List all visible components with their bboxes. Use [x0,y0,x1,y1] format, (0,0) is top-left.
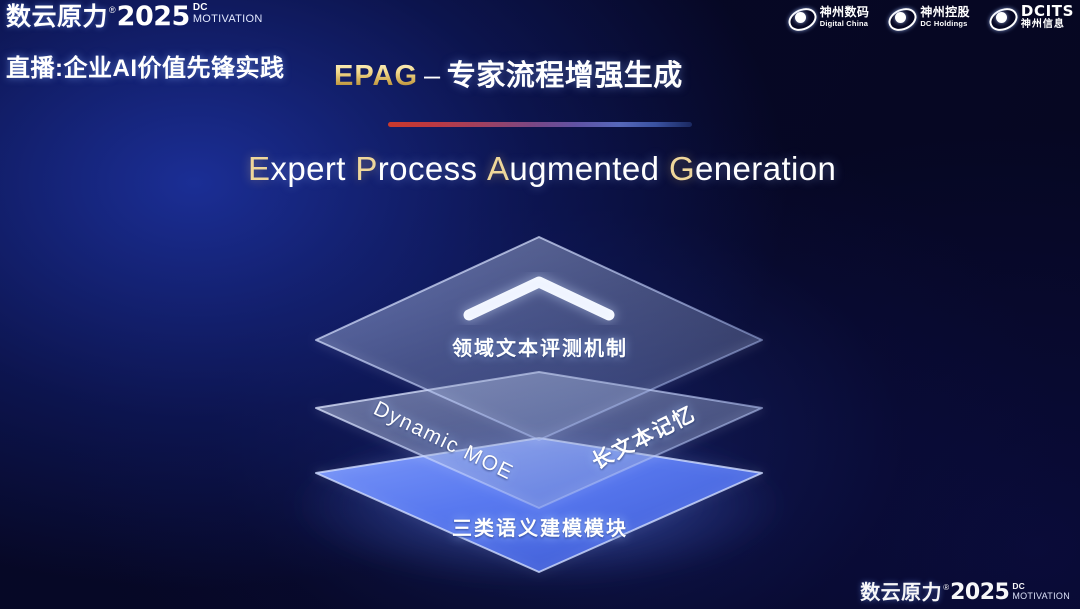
partner-name-cn: 神州数码 [820,6,870,19]
partner-name-en: Digital China [820,19,870,29]
chevron-up-icon [469,282,609,315]
layer-bottom-plate [316,438,762,572]
subtitle-cap-p: P [355,150,377,187]
partner-logo-dcits: DCITS 神州信息 [988,4,1074,31]
brand-logo: 数云原力 ® 2025 DC MOTIVATION [6,2,263,32]
brand-motivation: MOTIVATION [193,13,263,25]
partner-name-cn: DCITS [1021,4,1074,19]
subtitle-word-generation: eneration [695,150,836,187]
subtitle-word-process: rocess [378,150,478,187]
registered-mark: ® [109,3,116,17]
gradient-divider [388,122,692,127]
brand-year: 2025 [117,2,190,32]
watermark-year: 2025 [950,581,1009,605]
partner-logo-digital-china: 神州数码 Digital China [787,6,870,30]
partner-logo-group: 神州数码 Digital China 神州控股 DC Holdings DCIT… [787,4,1074,31]
watermark-subtag: DC MOTIVATION [1012,582,1070,601]
bottom-layer-glow [289,423,789,587]
watermark-motivation: MOTIVATION [1012,591,1070,601]
layer-bottom-rim [316,438,762,572]
top-bar: 数云原力 ® 2025 DC MOTIVATION 直播:企业AI价值先锋实践 … [0,0,1080,96]
swirl-icon [988,6,1016,30]
subtitle-word-expert: xpert [270,150,345,187]
partner-text: DCITS 神州信息 [1021,4,1074,31]
subtitle-cap-a: A [487,150,509,187]
brand-name-cn: 数云原力 [6,2,108,32]
subtitle-cap-g: G [669,150,695,187]
brand-dc: DC [193,3,263,13]
partner-name-en: 神州信息 [1021,19,1074,31]
side-label-long-text-memory: 长文本记忆 [586,398,700,476]
swirl-icon [887,6,915,30]
watermark-registered: ® [943,582,949,593]
chevron-up-icon-glow [469,282,609,315]
brand-subtag: DC MOTIVATION [193,3,263,25]
layer-bottom-label: 三类语义建模模块 [0,512,1080,541]
watermark-name-cn: 数云原力 [860,581,942,605]
layer-bottom[interactable] [316,438,762,572]
subtitle-cap-e: E [248,150,270,187]
partner-name-cn: 神州控股 [920,6,970,19]
layer-middle[interactable] [316,372,762,508]
partner-text: 神州控股 DC Holdings [920,6,970,29]
partner-name-en: DC Holdings [920,19,970,29]
side-label-dynamic-moe: Dynamic MOE [369,397,517,486]
layer-middle-plate [316,372,762,508]
subtitle-word-augmented: ugmented [509,150,659,187]
partner-text: 神州数码 Digital China [820,6,870,29]
layer-top-label: 领域文本评测机制 [0,332,1080,361]
live-session-label: 直播:企业AI价值先锋实践 [6,48,285,83]
slide-subtitle: Expert Process Augmented Generation [248,150,836,188]
watermark-logo: 数云原力 ® 2025 DC MOTIVATION [860,581,1070,605]
swirl-icon [787,6,815,30]
partner-logo-dc-holdings: 神州控股 DC Holdings [887,6,970,30]
watermark-dc: DC [1012,582,1070,591]
slide-canvas: 数云原力 ® 2025 DC MOTIVATION 直播:企业AI价值先锋实践 … [0,0,1080,609]
